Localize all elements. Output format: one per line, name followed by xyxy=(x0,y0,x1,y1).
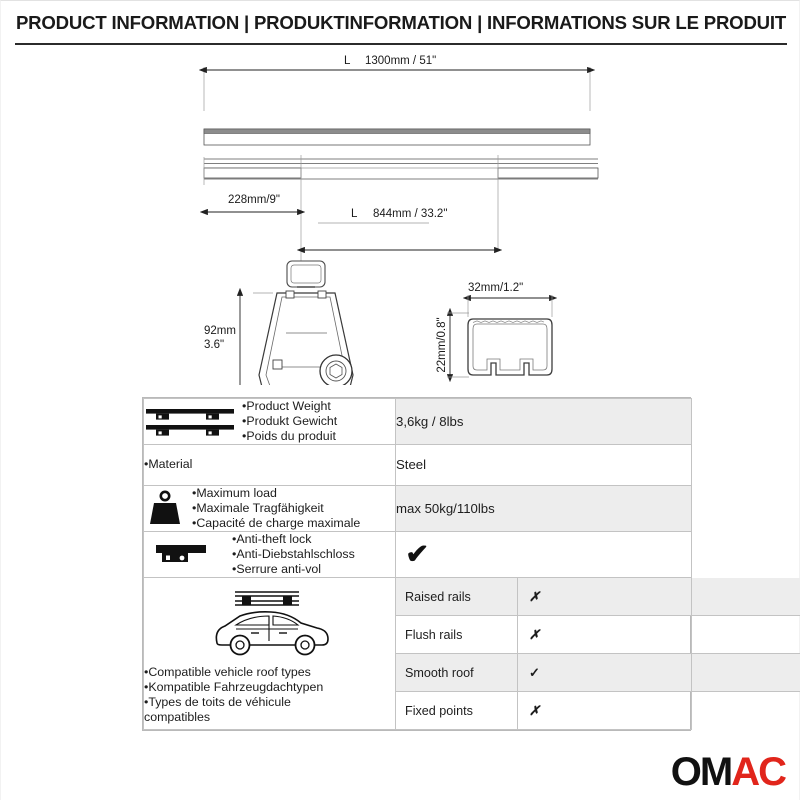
label-line-material: •Material xyxy=(144,457,192,472)
compat-row-smooth-roof: Smooth roof ✓ xyxy=(396,654,800,692)
table-row: •Product Weight •Produkt Gewicht •Poids … xyxy=(144,399,692,445)
cross-mark-icon: ✗ xyxy=(529,703,540,718)
omac-logo: OMAC xyxy=(671,752,785,792)
row-value-anti-theft: ✔ xyxy=(396,531,692,577)
dim-profile-height: 22mm/0.8" xyxy=(436,317,448,372)
compat-name: Flush rails xyxy=(396,616,518,654)
label-line-fr-cont: compatibles xyxy=(144,710,323,725)
label-line-fr: •Types de toits de véhicule xyxy=(144,695,323,710)
compat-row-flush-rails: Flush rails ✗ xyxy=(396,616,800,654)
cross-mark-icon: ✗ xyxy=(529,589,540,604)
table-row: •Material Steel xyxy=(144,445,692,485)
row-label-text-compatibility: •Compatible vehicle roof types •Kompatib… xyxy=(144,665,323,726)
crossbars-icon xyxy=(144,402,236,442)
compat-row-fixed-points: Fixed points ✗ xyxy=(396,692,800,730)
row-label-product-weight: •Product Weight •Produkt Gewicht •Poids … xyxy=(144,399,396,445)
cross-mark-icon: ✗ xyxy=(529,627,540,642)
dim-overall-value: 1300mm / 51" xyxy=(365,55,436,67)
compatibility-options-cell: Raised rails ✗ Flush rails ✗ Smooth roof… xyxy=(396,578,692,730)
label-line-fr: •Serrure anti-vol xyxy=(232,562,355,577)
label-line-fr: •Poids du produit xyxy=(242,429,337,444)
car-with-rack-icon xyxy=(195,583,345,659)
row-label-compatibility: •Compatible vehicle roof types •Kompatib… xyxy=(144,578,396,730)
table-row: •Maximum load •Maximale Tragfähigkeit •C… xyxy=(144,485,692,531)
technical-drawing: L 1300mm / 51" 228mm/9" L 844mm / 33.2" … xyxy=(1,45,800,385)
compat-name: Fixed points xyxy=(396,692,518,730)
label-line-en: •Compatible vehicle roof types xyxy=(144,665,323,680)
dim-span-value: 844mm / 33.2" xyxy=(373,208,447,220)
row-label-text-max-load: •Maximum load •Maximale Tragfähigkeit •C… xyxy=(192,486,360,531)
dim-height-line2: 3.6" xyxy=(204,339,224,351)
row-value-material: Steel xyxy=(396,445,692,485)
label-line-fr: •Capacité de charge maximale xyxy=(192,516,360,531)
compat-mark: ✗ xyxy=(518,616,800,654)
specification-table: •Product Weight •Produkt Gewicht •Poids … xyxy=(142,397,691,731)
compat-name: Raised rails xyxy=(396,578,518,616)
dim-overall-prefix: L xyxy=(344,55,351,67)
logo-text-om: OM xyxy=(671,750,731,794)
compat-row-raised-rails: Raised rails ✗ xyxy=(396,578,800,616)
table-row-compatibility: •Compatible vehicle roof types •Kompatib… xyxy=(144,578,692,730)
page-header: PRODUCT INFORMATION | PRODUKTINFORMATION… xyxy=(1,1,800,45)
compatibility-table: Raised rails ✗ Flush rails ✗ Smooth roof… xyxy=(396,578,800,729)
row-label-max-load: •Maximum load •Maximale Tragfähigkeit •C… xyxy=(144,485,396,531)
dim-profile-width: 32mm/1.2" xyxy=(468,282,523,294)
row-label-material: •Material xyxy=(144,445,396,485)
dim-height-line1: 92mm xyxy=(204,325,236,337)
row-label-text-product-weight: •Product Weight •Produkt Gewicht •Poids … xyxy=(242,399,337,444)
weight-icon xyxy=(144,487,186,529)
lock-icon xyxy=(154,538,210,572)
label-line-de: •Produkt Gewicht xyxy=(242,414,337,429)
label-line-en: •Anti-theft lock xyxy=(232,532,355,547)
label-line-en: •Product Weight xyxy=(242,399,337,414)
row-value-product-weight: 3,6kg / 8lbs xyxy=(396,399,692,445)
dim-foot-offset: 228mm/9" xyxy=(228,194,280,206)
row-label-text-anti-theft: •Anti-theft lock •Anti-Diebstahlschloss … xyxy=(232,532,355,577)
page-title: PRODUCT INFORMATION | PRODUKTINFORMATION… xyxy=(16,12,786,34)
label-line-de: •Kompatible Fahrzeugdachtypen xyxy=(144,680,323,695)
compat-mark: ✗ xyxy=(518,692,800,730)
check-mark-icon: ✔ xyxy=(405,541,429,568)
label-line-de: •Anti-Diebstahlschloss xyxy=(232,547,355,562)
compat-mark: ✗ xyxy=(518,578,800,616)
label-line-en: •Maximum load xyxy=(192,486,360,501)
dim-span-prefix: L xyxy=(351,208,358,220)
compat-name: Smooth roof xyxy=(396,654,518,692)
logo-text-ac: AC xyxy=(731,750,785,794)
compat-mark: ✓ xyxy=(518,654,800,692)
row-value-max-load: max 50kg/110lbs xyxy=(396,485,692,531)
row-label-text-material: •Material xyxy=(144,457,192,472)
label-line-de: •Maximale Tragfähigkeit xyxy=(192,501,360,516)
check-mark-icon: ✓ xyxy=(529,665,540,680)
table-row: •Anti-theft lock •Anti-Diebstahlschloss … xyxy=(144,531,692,577)
row-label-anti-theft: •Anti-theft lock •Anti-Diebstahlschloss … xyxy=(144,531,396,577)
